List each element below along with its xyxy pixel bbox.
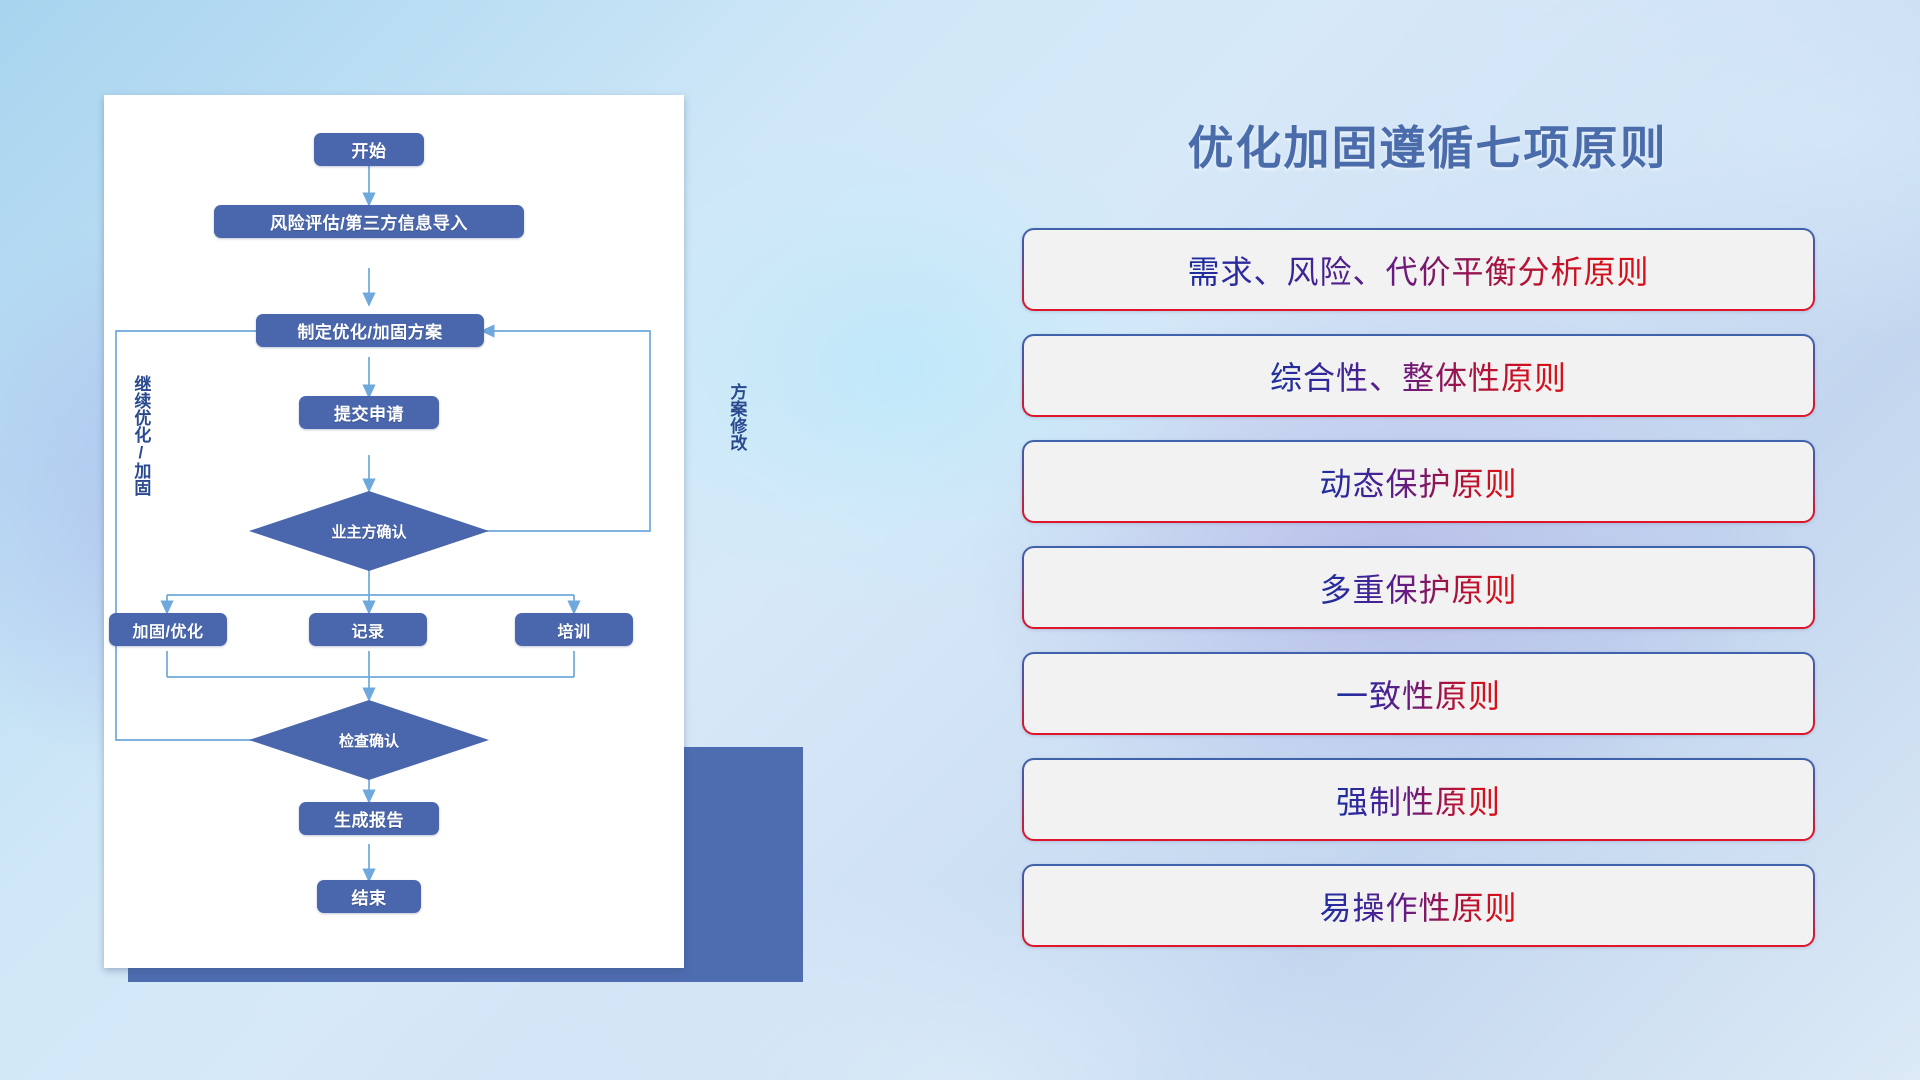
principle-list: 需求、风险、代价平衡分析原则 综合性、整体性原则 动态保护原则 多重保护原则 一… bbox=[1022, 228, 1815, 970]
principle-item-6[interactable]: 强制性原则 bbox=[1022, 758, 1815, 841]
flow-node-record-label: 记录 bbox=[351, 618, 384, 642]
principle-item-5-label: 一致性原则 bbox=[1336, 671, 1501, 717]
principle-item-1[interactable]: 需求、风险、代价平衡分析原则 bbox=[1022, 228, 1815, 311]
flow-node-generate-report-label: 生成报告 bbox=[334, 806, 404, 831]
principle-item-2[interactable]: 综合性、整体性原则 bbox=[1022, 334, 1815, 417]
flow-node-submit-application[interactable]: 提交申请 bbox=[299, 396, 439, 429]
principle-item-6-label: 强制性原则 bbox=[1336, 777, 1501, 823]
flow-node-risk-assessment[interactable]: 风险评估/第三方信息导入 bbox=[214, 205, 524, 238]
principle-item-5[interactable]: 一致性原则 bbox=[1022, 652, 1815, 735]
flow-node-training[interactable]: 培训 bbox=[515, 613, 633, 646]
flow-node-reinforce-optimize[interactable]: 加固/优化 bbox=[109, 613, 227, 646]
flow-node-generate-report[interactable]: 生成报告 bbox=[299, 802, 439, 835]
flow-node-owner-confirm-label: 业主方确认 bbox=[331, 521, 406, 542]
flow-node-make-plan-label: 制定优化/加固方案 bbox=[297, 318, 442, 343]
flow-node-record[interactable]: 记录 bbox=[309, 613, 427, 646]
flow-node-submit-application-label: 提交申请 bbox=[334, 400, 404, 425]
flow-node-risk-assessment-label: 风险评估/第三方信息导入 bbox=[270, 209, 468, 234]
edge-label-continue-optimize: 继续优化/加固 bbox=[132, 375, 149, 496]
edge-label-plan-revision: 方案修改 bbox=[728, 383, 745, 451]
flow-node-reinforce-optimize-label: 加固/优化 bbox=[133, 618, 204, 642]
flow-node-end[interactable]: 结束 bbox=[317, 880, 421, 913]
panel-title: 优化加固遵循七项原则 bbox=[1000, 112, 1855, 178]
flow-node-start-label: 开始 bbox=[352, 137, 387, 162]
principles-panel: 优化加固遵循七项原则 需求、风险、代价平衡分析原则 综合性、整体性原则 动态保护… bbox=[1000, 0, 1920, 1080]
flow-node-check-confirm[interactable]: 检查确认 bbox=[249, 700, 489, 780]
principle-item-3[interactable]: 动态保护原则 bbox=[1022, 440, 1815, 523]
principle-item-2-label: 综合性、整体性原则 bbox=[1270, 353, 1567, 399]
flow-node-end-label: 结束 bbox=[352, 884, 387, 909]
flow-node-training-label: 培训 bbox=[557, 618, 590, 642]
principle-item-7[interactable]: 易操作性原则 bbox=[1022, 864, 1815, 947]
principle-item-4-label: 多重保护原则 bbox=[1319, 565, 1517, 611]
flow-node-start[interactable]: 开始 bbox=[314, 133, 424, 166]
flowchart-panel: 开始 风险评估/第三方信息导入 制定优化/加固方案 提交申请 业主方确认 加固/… bbox=[0, 0, 830, 1080]
flowchart-canvas: 开始 风险评估/第三方信息导入 制定优化/加固方案 提交申请 业主方确认 加固/… bbox=[104, 95, 684, 968]
principle-item-1-label: 需求、风险、代价平衡分析原则 bbox=[1187, 247, 1649, 293]
flow-node-check-confirm-label: 检查确认 bbox=[339, 730, 399, 751]
flow-node-owner-confirm[interactable]: 业主方确认 bbox=[249, 491, 489, 571]
principle-item-7-label: 易操作性原则 bbox=[1319, 883, 1517, 929]
principle-item-4[interactable]: 多重保护原则 bbox=[1022, 546, 1815, 629]
principle-item-3-label: 动态保护原则 bbox=[1319, 459, 1517, 505]
flow-node-make-plan[interactable]: 制定优化/加固方案 bbox=[256, 314, 484, 347]
